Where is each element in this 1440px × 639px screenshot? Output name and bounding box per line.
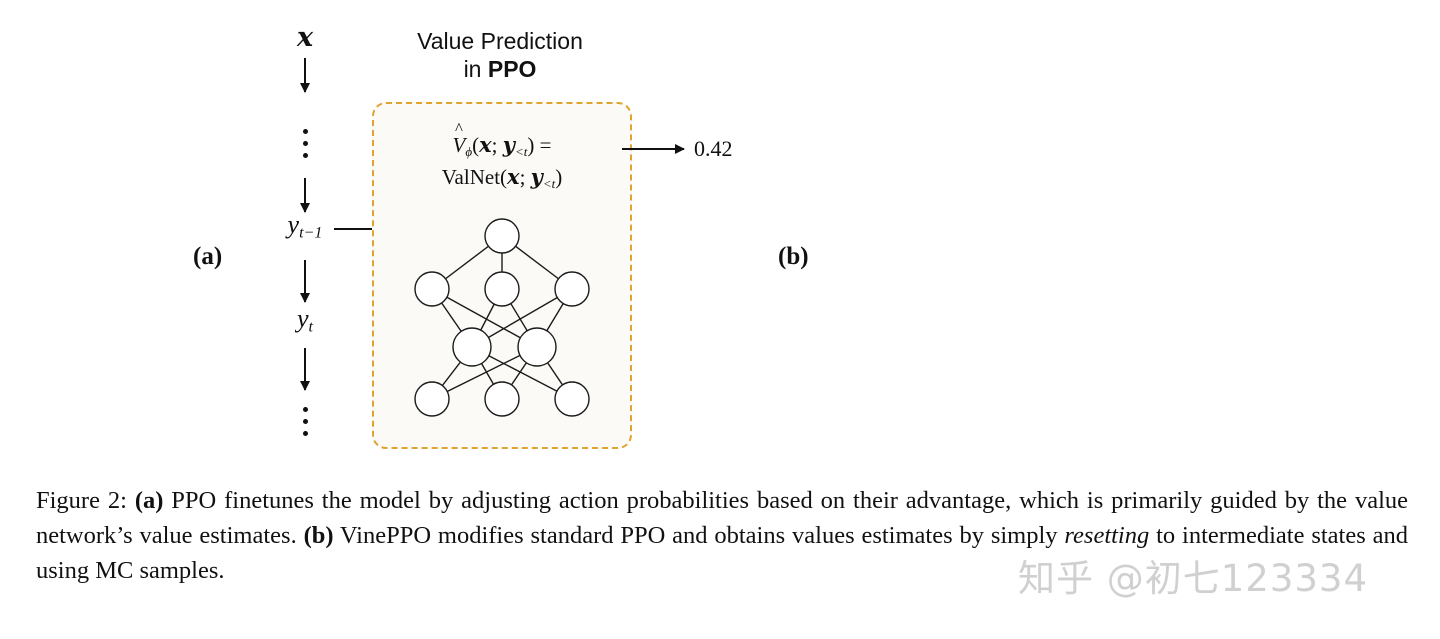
panel-a-dots-top	[250, 122, 360, 165]
panel-a-title-line2: in PPO	[335, 55, 665, 83]
panel-a-sequence: x	[250, 24, 360, 51]
panel-a-value-box: ^Vϕ(x; y<t) = ValNet(x; y<t)	[372, 102, 632, 449]
panel-b-tag: (b)	[778, 243, 809, 271]
caption-tag-a: (a)	[135, 487, 164, 514]
value-network-diagram	[392, 214, 612, 419]
panel-a: (a) Value Prediction in PPO x yt−1 yt	[0, 0, 720, 470]
panel-a-title-bold: PPO	[488, 56, 537, 82]
caption-text-b-1: VinePPO modifies standard PPO and obtain…	[334, 522, 1065, 549]
panel-a-title-prefix: in	[464, 56, 488, 82]
panel-a-input-x: x	[250, 24, 360, 51]
panel-a-state-prev-sub: t−1	[299, 225, 322, 242]
panel-a-state-cur: yt	[250, 306, 360, 336]
panel-a-arrow-1	[304, 58, 306, 92]
panel-a-dots-bottom	[250, 400, 360, 443]
caption-figure-number: Figure 2:	[36, 487, 127, 514]
panel-b: (b) Value Prediction in VinePPO x yt−1 y…	[715, 0, 1435, 470]
panel-a-equation-line1: ^Vϕ(x; y<t) =	[374, 130, 630, 162]
panel-a-equation-line2: ValNet(x; y<t)	[374, 162, 630, 194]
panel-a-title-line1: Value Prediction	[335, 27, 665, 55]
panel-a-state-prev-wrap: yt−1	[250, 212, 360, 242]
panel-a-arrow-4	[304, 348, 306, 390]
panel-a-title: Value Prediction in PPO	[335, 27, 665, 83]
panel-a-state-cur-sub: t	[309, 319, 313, 336]
panel-a-arrow-3	[304, 260, 306, 302]
caption-tag-b: (b)	[304, 522, 334, 549]
figure-caption: Figure 2: (a) PPO finetunes the model by…	[36, 484, 1408, 588]
panel-a-tag: (a)	[193, 243, 222, 271]
panel-a-state-cur-base: y	[297, 304, 309, 333]
panel-a-arrow-2	[304, 178, 306, 212]
figure-2: (a) Value Prediction in PPO x yt−1 yt	[0, 0, 1440, 639]
panel-a-output-arrow	[622, 148, 684, 150]
panel-a-state-cur-wrap: yt	[250, 306, 360, 336]
caption-text-b-italic: resetting	[1064, 522, 1149, 549]
panel-a-state-prev-base: y	[288, 210, 300, 239]
panel-a-state-prev: yt−1	[250, 212, 360, 242]
